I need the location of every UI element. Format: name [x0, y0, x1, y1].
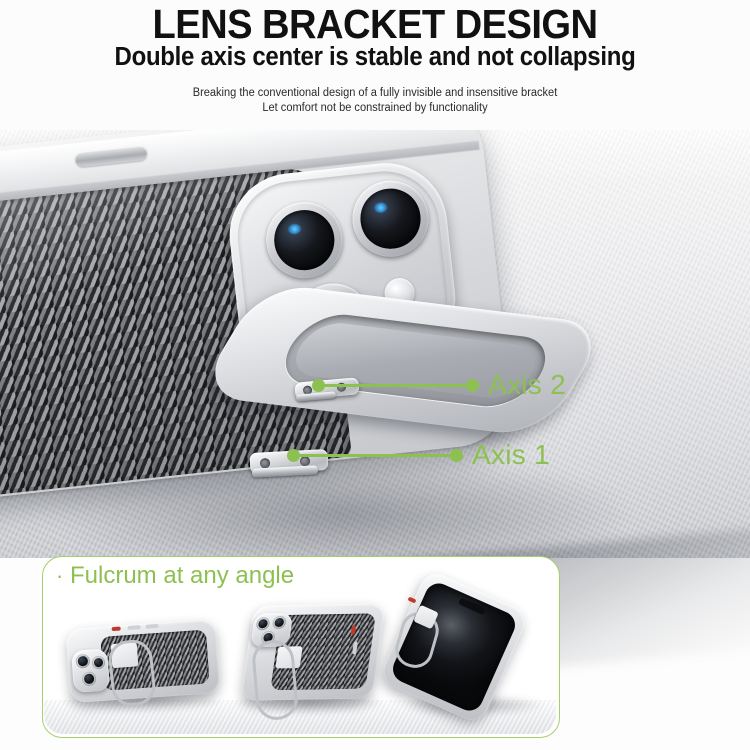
callout-endpoint-axis-2 [466, 379, 479, 392]
lens-glint-icon [374, 202, 388, 213]
mini-1-lens-2 [92, 656, 106, 670]
callout-dot-axis-2 [312, 379, 325, 392]
page-tagline: Breaking the conventional design of a fu… [15, 86, 735, 116]
bullet-icon: · [56, 563, 63, 588]
callout-dot-axis-1 [287, 449, 300, 462]
mini-1-camera-island [71, 648, 110, 692]
tagline-line-2: Let comfort not be constrained by functi… [15, 101, 735, 116]
callout-endpoint-axis-1 [450, 449, 463, 462]
header-block: LENS BRACKET DESIGN Double axis center i… [0, 0, 750, 130]
mini-1-accent-button [112, 626, 121, 631]
lens-glint-icon [287, 224, 301, 235]
callout-label-axis-1: Axis 1 [472, 439, 550, 471]
mini-1-lens-3 [82, 671, 97, 686]
camera-lens-1 [262, 198, 346, 282]
mini-phone-2-kickstand-ring [251, 638, 300, 721]
tagline-line-1: Breaking the conventional design of a fu… [15, 86, 735, 101]
mini-1-lens-1 [75, 654, 90, 669]
product-marketing-image: Axis 2 Axis 1 · Fulcrum at any angle [0, 0, 750, 750]
fulcrum-panel-title-text: Fulcrum at any angle [70, 562, 294, 589]
callout-line-axis-1 [297, 454, 454, 457]
page-title: LENS BRACKET DESIGN [26, 2, 724, 46]
camera-lens-2 [349, 177, 433, 261]
mini-2-lens-2 [272, 616, 287, 629]
callout-line-axis-2 [322, 384, 470, 387]
mini-phone-1-kickstand-ring [107, 638, 158, 708]
page-subtitle: Double axis center is stable and not col… [23, 42, 728, 72]
callout-label-axis-2: Axis 2 [488, 369, 566, 401]
mini-2-lens-1 [255, 617, 270, 630]
fulcrum-panel-title: · Fulcrum at any angle [56, 562, 294, 590]
